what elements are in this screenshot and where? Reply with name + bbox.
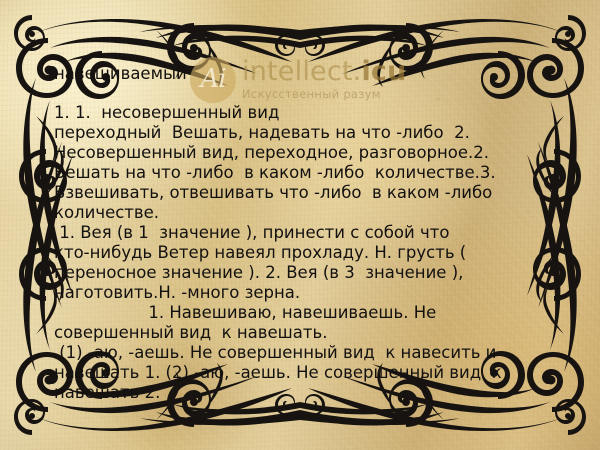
article-line: навешать 1. (2) -аю, -аешь. Не совершенн…	[54, 363, 554, 383]
article-line: кто-нибудь Ветер навеял прохладу. Н. гру…	[54, 243, 554, 263]
article-line: переносное значение ). 2. Вея (в 3 значе…	[54, 263, 554, 283]
article-line: переходный Вешать, надевать на что -либо…	[54, 123, 554, 143]
article-line: навешать 2.	[54, 383, 554, 403]
article-line: Вешать на что -либо в каком -либо количе…	[54, 163, 554, 183]
parchment-page: Ai intellect.icu Искусственный разум нав…	[0, 0, 600, 450]
article-line: Несовершенный вид, переходное, разговорн…	[54, 143, 554, 163]
headword: навешиваемый	[54, 64, 554, 84]
article-line: 1. Вея (в 1 значение ), принести с собой…	[54, 223, 554, 243]
article-line: количестве.	[54, 203, 554, 223]
dictionary-article: навешиваемый 1. 1. несовершенный вид пер…	[54, 64, 554, 403]
article-line: 1. 1. несовершенный вид	[54, 103, 554, 123]
article-line: 1. Навешиваю, навешиваешь. Не	[54, 303, 554, 323]
article-line: наготовить.Н. -много зерна.	[54, 283, 554, 303]
article-line: совершенный вид к навешать.	[54, 323, 554, 343]
article-line: Взвешивать, отвешивать что -либо в каком…	[54, 183, 554, 203]
article-body: 1. 1. несовершенный вид переходный Вешат…	[54, 103, 554, 403]
article-line: (1) -аю, -аешь. Не совершенный вид к нав…	[54, 343, 554, 363]
